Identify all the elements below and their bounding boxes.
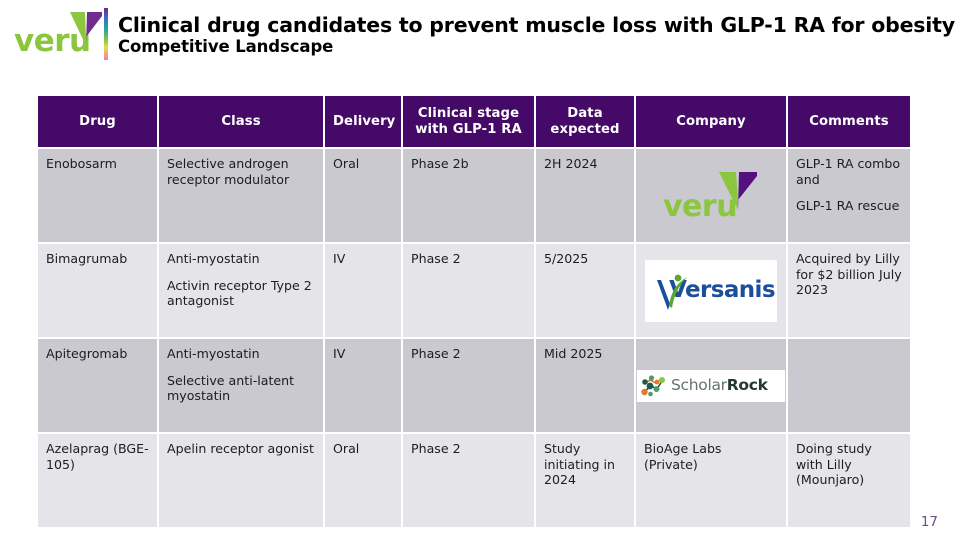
cell-data-expected: Mid 2025 [536, 339, 634, 432]
veru-checkmark-icon [70, 12, 102, 46]
class-line-1: Anti-myostatin [167, 251, 315, 267]
cell-delivery: IV [325, 244, 401, 337]
cell-clinical-stage: Phase 2 [403, 339, 534, 432]
slide-header: veru Clinical drug candidates to prevent… [0, 0, 960, 78]
versanis-logo: Versanis [645, 260, 777, 322]
column-header-data-expected-line1: Data [567, 106, 602, 121]
table-row: Azelaprag (BGE-105) Apelin receptor agon… [38, 434, 910, 527]
column-header-company: Company [636, 96, 786, 147]
cell-drug: Apitegromab [38, 339, 157, 432]
scholarrock-word-scholar: Scholar [671, 376, 727, 394]
comments-line-2: GLP-1 RA rescue [796, 198, 902, 214]
cell-drug: Azelaprag (BGE-105) [38, 434, 157, 527]
class-line-2: Selective anti-latent myostatin [167, 373, 315, 404]
versanis-swoosh-icon [653, 270, 689, 312]
column-header-clinical-stage-line2: with GLP-1 RA [415, 122, 522, 137]
cell-clinical-stage: Phase 2b [403, 149, 534, 242]
cell-company: ScholarRock [636, 339, 786, 432]
title-block: Clinical drug candidates to prevent musc… [118, 14, 938, 57]
veru-checkmark-icon [719, 172, 757, 210]
column-header-comments: Comments [788, 96, 910, 147]
cell-drug: Bimagrumab [38, 244, 157, 337]
scholarrock-logo: ScholarRock [637, 370, 785, 402]
column-header-data-expected-line2: expected [550, 122, 619, 137]
cell-data-expected: 5/2025 [536, 244, 634, 337]
table-row: Enobosarm Selective androgen receptor mo… [38, 149, 910, 242]
column-header-class: Class [159, 96, 323, 147]
comments-line-1: GLP-1 RA combo and [796, 156, 902, 187]
cell-data-expected: 2H 2024 [536, 149, 634, 242]
column-header-data-expected: Data expected [536, 96, 634, 147]
scholarrock-word-rock: Rock [727, 376, 768, 394]
competitive-landscape-table: Drug Class Delivery Clinical stage with … [36, 94, 912, 529]
cell-delivery: IV [325, 339, 401, 432]
cell-class: Apelin receptor agonist [159, 434, 323, 527]
page-subtitle: Competitive Landscape [118, 38, 938, 57]
cell-comments [788, 339, 910, 432]
page-number: 17 [921, 514, 938, 530]
cell-company: veru [636, 149, 786, 242]
column-header-drug: Drug [38, 96, 157, 147]
table-row: Apitegromab Anti-myostatin Selective ant… [38, 339, 910, 432]
cell-delivery: Oral [325, 149, 401, 242]
cell-class: Anti-myostatin Selective anti-latent myo… [159, 339, 323, 432]
column-header-clinical-stage: Clinical stage with GLP-1 RA [403, 96, 534, 147]
cell-drug: Enobosarm [38, 149, 157, 242]
veru-logo: veru [14, 8, 98, 60]
table-header-row: Drug Class Delivery Clinical stage with … [38, 96, 910, 147]
cell-comments: GLP-1 RA combo and GLP-1 RA rescue [788, 149, 910, 242]
cell-clinical-stage: Phase 2 [403, 244, 534, 337]
column-header-delivery: Delivery [325, 96, 401, 147]
cell-company: Versanis [636, 244, 786, 337]
cell-company: BioAge Labs (Private) [636, 434, 786, 527]
veru-logo: veru [657, 170, 765, 222]
cell-clinical-stage: Phase 2 [403, 434, 534, 527]
table-row: Bimagrumab Anti-myostatin Activin recept… [38, 244, 910, 337]
cell-comments: Acquired by Lilly for $2 billion July 20… [788, 244, 910, 337]
logo-divider [104, 8, 108, 60]
cell-delivery: Oral [325, 434, 401, 527]
cell-class: Anti-myostatin Activin receptor Type 2 a… [159, 244, 323, 337]
cell-data-expected: Study initiating in 2024 [536, 434, 634, 527]
page-title: Clinical drug candidates to prevent musc… [118, 14, 938, 37]
scholarrock-molecule-icon [641, 374, 667, 398]
cell-class: Selective androgen receptor modulator [159, 149, 323, 242]
class-line-1: Anti-myostatin [167, 346, 315, 362]
scholarrock-wordmark: ScholarRock [671, 378, 768, 394]
class-line-2: Activin receptor Type 2 antagonist [167, 278, 315, 309]
column-header-clinical-stage-line1: Clinical stage [418, 106, 519, 121]
cell-comments: Doing study with Lilly (Mounjaro) [788, 434, 910, 527]
